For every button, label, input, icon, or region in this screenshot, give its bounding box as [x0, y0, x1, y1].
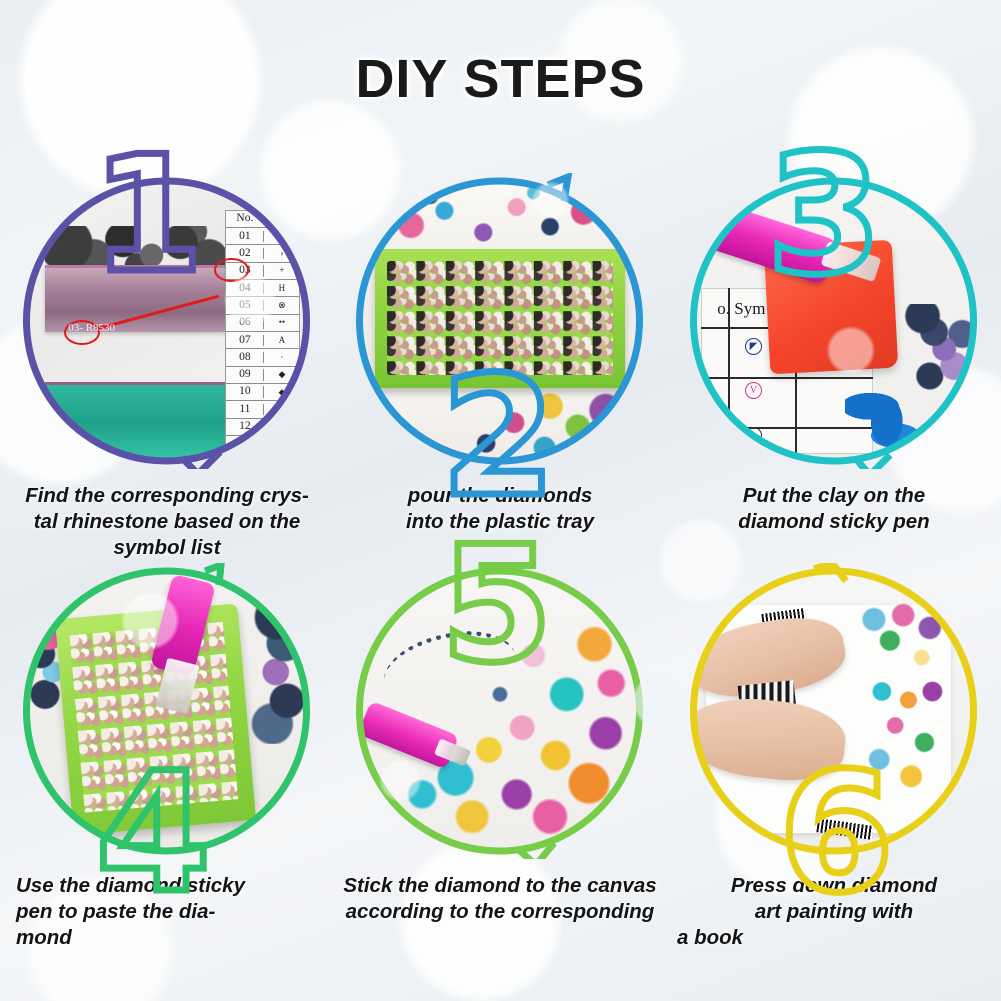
step-bubble-6: [686, 563, 982, 859]
step-caption-6: Press down diamond art painting with a b…: [667, 873, 1001, 952]
bubble-outline-4: [19, 563, 315, 859]
bubble-outline-3: [686, 173, 982, 469]
step-card-5[interactable]: 5 Stick the diamond to the canvas accord…: [333, 555, 667, 945]
step-card-3[interactable]: o. Sym ◤ V + 3 Put the clay on the: [667, 165, 1001, 555]
step-caption-2: pour the diamonds into the plastic tray: [333, 483, 667, 535]
step-card-6[interactable]: 6 Press down diamond art painting with a…: [667, 555, 1001, 945]
step-caption-1: Find the corresponding crys- tal rhinest…: [0, 483, 334, 562]
bubble-outline-1: [19, 173, 315, 469]
bubble-outline-2: [352, 173, 648, 469]
step-caption-5: Stick the diamond to the canvas accordin…: [320, 873, 680, 925]
step-bubble-3: o. Sym ◤ V +: [686, 173, 982, 469]
step-caption-4: Use the diamond sticky pen to paste the …: [0, 873, 334, 952]
step-bubble-5: [352, 563, 648, 859]
bubble-outline-6: [686, 563, 982, 859]
step-bubble-4: [19, 563, 315, 859]
step-bubble-2: [352, 173, 648, 469]
step-card-1[interactable]: No.0102›03+04H05⊗06••07A08·09◆10◆111213 …: [0, 165, 334, 555]
page-title: DIY STEPS: [0, 48, 1001, 110]
bubble-outline-5: [352, 563, 648, 859]
step-card-2[interactable]: 2 pour the diamonds into the plastic tra…: [333, 165, 667, 555]
step-caption-3: Put the clay on the diamond sticky pen: [667, 483, 1001, 535]
step-card-4[interactable]: 4 Use the diamond sticky pen to paste th…: [0, 555, 334, 945]
step-bubble-1: No.0102›03+04H05⊗06••07A08·09◆10◆111213 …: [19, 173, 315, 469]
infographic-page: DIY STEPS No.0102›03+04H05⊗06••07A08·09◆…: [0, 0, 1001, 1001]
